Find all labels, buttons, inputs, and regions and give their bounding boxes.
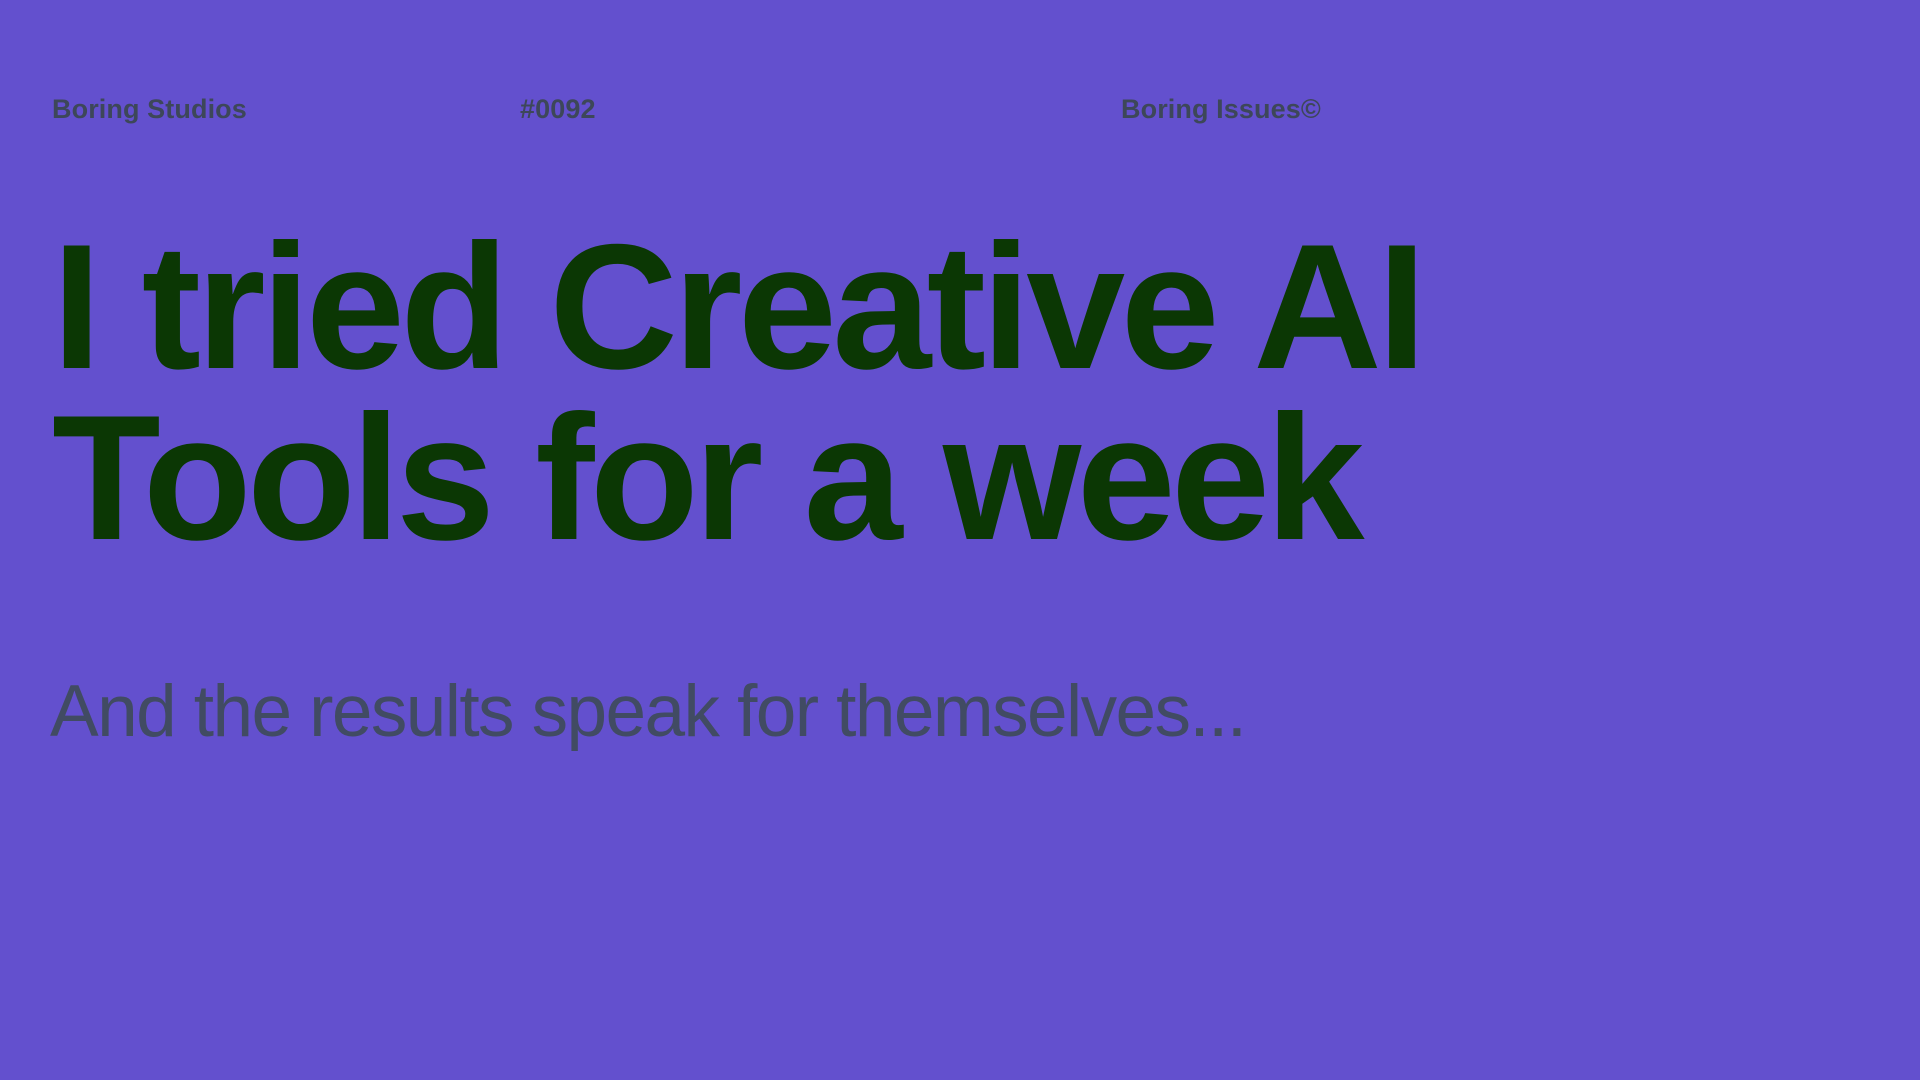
header-meta-row: Boring Studios #0092 Boring Issues© xyxy=(0,92,1920,126)
studio-name-label: Boring Studios xyxy=(52,92,247,126)
subtitle-text: And the results speak for themselves... xyxy=(50,675,1245,748)
issue-number-label: #0092 xyxy=(520,92,596,126)
page-title: I tried Creative AI Tools for a week xyxy=(52,222,1812,564)
brand-label: Boring Issues© xyxy=(1121,92,1321,126)
slide-canvas: Boring Studios #0092 Boring Issues© I tr… xyxy=(0,0,1920,1080)
